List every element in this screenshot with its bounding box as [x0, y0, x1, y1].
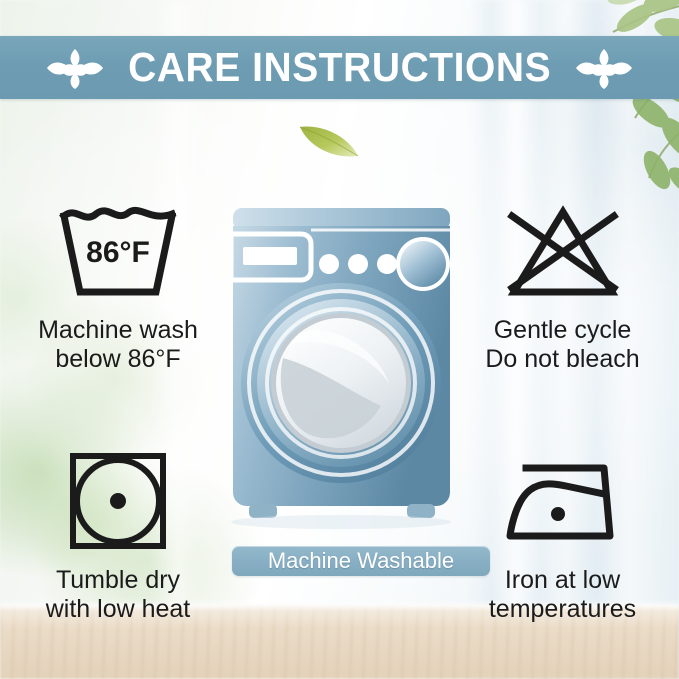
machine-washable-label: Machine Washable — [268, 550, 454, 572]
machine-washable-badge: Machine Washable — [232, 546, 490, 576]
iron-low-heat-icon — [450, 446, 675, 558]
do-not-bleach-triangle-icon — [450, 196, 675, 308]
page-title: CARE INSTRUCTIONS — [128, 47, 551, 88]
care-symbol-gentle-no-bleach: Gentle cycle Do not bleach — [450, 196, 675, 374]
header-banner: CARE INSTRUCTIONS — [0, 36, 679, 99]
care-symbol-caption: Gentle cycle Do not bleach — [450, 316, 675, 374]
care-symbol-caption: Tumble dry with low heat — [8, 566, 228, 624]
care-symbol-tumble-dry: Tumble dry with low heat — [8, 446, 228, 624]
fleur-de-lis-icon-left — [47, 46, 103, 90]
wash-temperature-value: 86°F — [86, 236, 150, 269]
care-instructions-infographic: CARE INSTRUCTIONS 86°F M — [0, 0, 679, 679]
washing-machine-illustration — [231, 208, 452, 530]
fleur-de-lis-icon-right — [576, 46, 632, 90]
floating-leaf-icon — [296, 118, 362, 162]
care-symbol-iron-low: Iron at low temperatures — [450, 446, 675, 624]
care-symbol-caption: Machine wash below 86°F — [8, 316, 228, 374]
tumble-dry-low-icon — [8, 446, 228, 558]
wash-tub-icon: 86°F — [8, 196, 228, 308]
care-symbol-machine-wash: 86°F Machine wash below 86°F — [8, 196, 228, 374]
